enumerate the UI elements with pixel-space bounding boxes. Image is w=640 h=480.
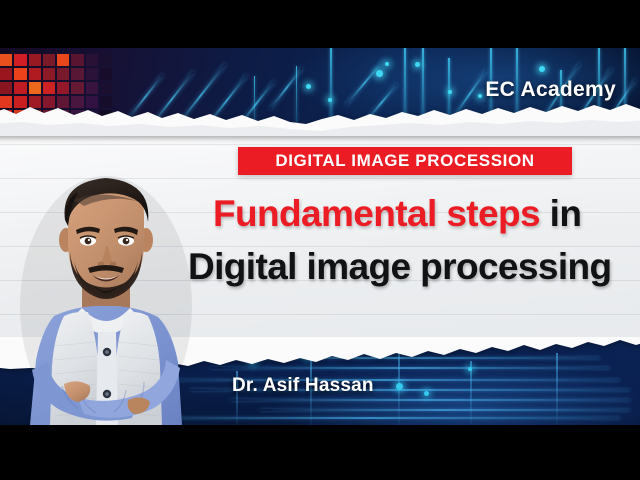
topic-badge-label: DIGITAL IMAGE PROCESSION	[275, 151, 534, 171]
circuit-node	[306, 84, 311, 89]
circuit-node	[539, 66, 545, 72]
circuit-node	[424, 391, 429, 396]
circuit-node	[415, 62, 420, 67]
circuit-node	[396, 383, 403, 390]
circuit-trace	[150, 379, 620, 381]
circuit-node	[376, 70, 383, 77]
presenter-name: Dr. Asif Hassan	[232, 375, 374, 397]
title-line-1-black: in	[540, 193, 581, 234]
topic-badge: DIGITAL IMAGE PROCESSION	[238, 147, 572, 175]
title-line-1-red: Fundamental steps	[213, 193, 540, 234]
video-thumbnail: EC Academy	[0, 0, 640, 480]
letterbox-top	[0, 0, 640, 48]
title-line-1: Fundamental steps in	[213, 193, 581, 235]
presenter-portrait	[8, 156, 204, 425]
title-line-2: Digital image processing	[188, 246, 612, 288]
letterbox-bottom	[0, 425, 640, 480]
circuit-node	[448, 90, 452, 94]
circuit-node	[385, 62, 389, 66]
circuit-trace	[260, 409, 630, 411]
circuit-trace	[230, 399, 630, 401]
torn-paper-edge-top	[0, 98, 640, 136]
thumbnail-content-frame: EC Academy	[0, 48, 640, 425]
